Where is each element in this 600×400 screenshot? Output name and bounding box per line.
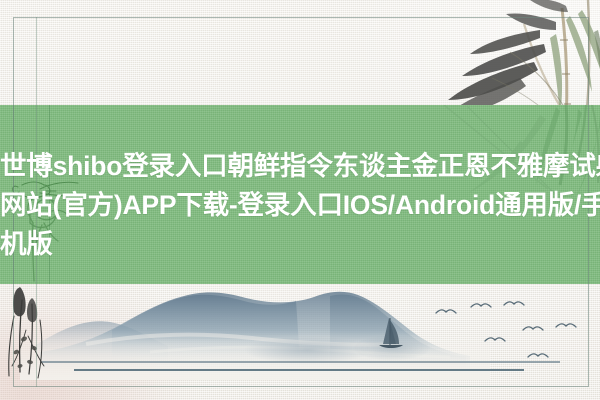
headline-line-2: 网站(官方)APP下载-登录入口IOS/Android通用版/手	[0, 186, 600, 225]
headline-line-1: 世博shibo登录入口朝鲜指令东谈主金正恩不雅摩试射	[0, 147, 600, 186]
page-title: 世博shibo登录入口朝鲜指令东谈主金正恩不雅摩试射 网站(官方)APP下载-登…	[0, 147, 600, 264]
poster-canvas: 世博shibo登录入口朝鲜指令东谈主金正恩不雅摩试射 网站(官方)APP下载-登…	[0, 0, 600, 400]
headline-line-3: 机版	[0, 225, 600, 264]
